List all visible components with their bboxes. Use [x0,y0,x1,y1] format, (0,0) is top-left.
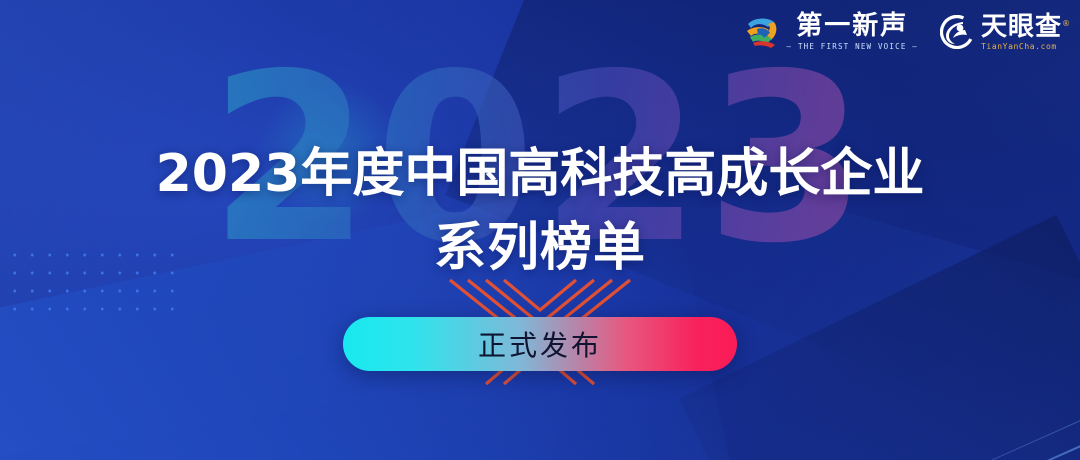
logo-diyixinsheng[interactable]: 第一新声 — THE FIRST NEW VOICE — [744,12,918,51]
logo-tianyancha-en: TianYanCha.com [981,42,1057,51]
eye-swirl-logo-icon [940,15,974,49]
release-status-pill[interactable]: 正式发布 [343,317,737,371]
logo-diyixinsheng-text: 第一新声 — THE FIRST NEW VOICE — [787,12,918,51]
light-streak-1 [717,432,1080,460]
headline-line-2: 系列榜单 [0,211,1080,285]
logo-tianyancha-cn-label: 天眼查 [981,12,1062,42]
page-title: 2023年度中国高科技高成长企业 系列榜单 [0,137,1080,285]
logo-tianyancha[interactable]: 天眼查® TianYanCha.com [940,13,1062,51]
logo-diyixinsheng-cn: 第一新声 [796,12,908,40]
trademark-icon: ® [1062,10,1071,38]
light-streak-2 [680,407,1080,460]
headline-line-1: 2023年度中国高科技高成长企业 [0,137,1080,211]
promotional-banner: 2023 2023年度中国高科技高成长企业 系列榜单 正式发布 [0,0,1080,460]
logo-tianyancha-text: 天眼查® TianYanCha.com [981,13,1062,51]
release-status-label: 正式发布 [478,324,602,364]
swirl-logo-icon [744,15,780,49]
logo-diyixinsheng-en: — THE FIRST NEW VOICE — [787,42,918,51]
logo-tianyancha-cn: 天眼查® [981,13,1062,41]
logo-bar: 第一新声 — THE FIRST NEW VOICE — 天眼查® TianYa… [744,12,1062,51]
